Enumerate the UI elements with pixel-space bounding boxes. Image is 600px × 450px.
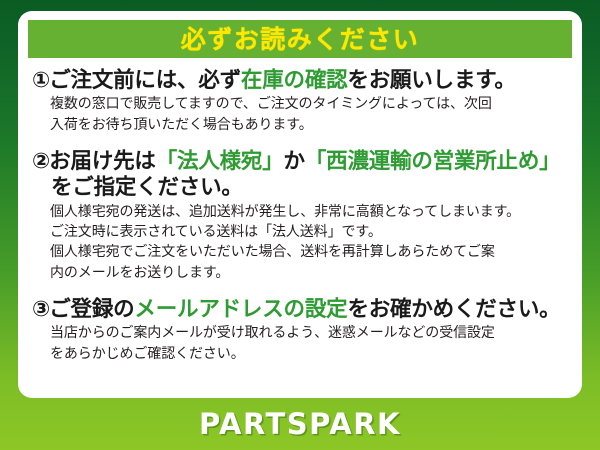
notice-body-line: ご注文時に表示されている送料は「法人送料」です。 [50, 222, 572, 242]
notice-heading-text: ご登録の [49, 297, 134, 322]
notice-body-line: 当店からのご案内メールが受け取れるよう、迷惑メールなどの受信設定 [50, 323, 572, 343]
notice-item: ②お届け先は「法人様宛」か「西濃運輸の営業所止め」をご指定ください。個人様宅宛の… [28, 149, 572, 283]
notice-card: 必ずお読みください ①ご注文前には、必ず在庫の確認をお願いします。複数の窓口で販… [18, 11, 582, 398]
notice-body-line: 入荷をお待ち頂いただく場合もあります。 [50, 115, 572, 135]
notice-number: ③ [32, 297, 49, 322]
notice-heading: ②お届け先は「法人様宛」か「西濃運輸の営業所止め」 [32, 149, 572, 174]
notice-body: 個人様宅宛の発送は、追加送料が発生し、非常に高額となってしまいます。ご注文時に表… [50, 202, 572, 283]
notice-heading-text: か [284, 149, 305, 174]
header-band: 必ずお読みください [28, 20, 572, 58]
notice-banner: 必ずお読みください ①ご注文前には、必ず在庫の確認をお願いします。複数の窓口で販… [0, 0, 600, 450]
notice-body-line: 内のメールをお送りします。 [50, 263, 572, 283]
brand-footer: PARTSPARK [0, 398, 600, 450]
notice-heading-text: をお願いします。 [347, 68, 515, 93]
notice-body-line: をあらかじめご確認ください。 [50, 344, 572, 364]
notice-heading-text: をお確かめください。 [347, 297, 560, 322]
notice-body-line: 個人様宅宛の発送は、追加送料が発生し、非常に高額となってしまいます。 [50, 202, 572, 222]
notice-heading-text: ご注文前には、必ず [49, 68, 241, 93]
notice-body-line: 複数の窓口で販売してますので、ご注文のタイミングによっては、次回 [50, 94, 572, 114]
notice-heading-highlight: 在庫の確認 [241, 68, 348, 93]
notice-heading-highlight: 「法人様宛」 [156, 149, 284, 174]
notice-number: ① [32, 68, 49, 93]
notice-heading-text: お届け先は [49, 149, 156, 174]
notice-item: ①ご注文前には、必ず在庫の確認をお願いします。複数の窓口で販売してますので、ご注… [28, 68, 572, 135]
notice-body: 複数の窓口で販売してますので、ご注文のタイミングによっては、次回入荷をお待ち頂い… [50, 94, 572, 135]
notice-number: ② [32, 149, 49, 174]
page-title: 必ずお読みください [181, 27, 420, 52]
notice-body-line: 個人様宅宛でご注文をいただいた場合、送料を再計算しあらためてご案 [50, 242, 572, 262]
notice-item: ③ご登録のメールアドレスの設定をお確かめください。当店からのご案内メールが受け取… [28, 297, 572, 364]
brand-name: PARTSPARK [199, 410, 401, 439]
notice-heading-continuation: をご指定ください。 [51, 175, 572, 200]
notice-heading: ①ご注文前には、必ず在庫の確認をお願いします。 [32, 68, 572, 93]
notice-heading-highlight: メールアドレスの設定 [134, 297, 347, 322]
notice-list: ①ご注文前には、必ず在庫の確認をお願いします。複数の窓口で販売してますので、ご注… [28, 68, 572, 364]
notice-heading-highlight: 「西濃運輸の営業所止め」 [305, 149, 561, 174]
notice-body: 当店からのご案内メールが受け取れるよう、迷惑メールなどの受信設定をあらかじめご確… [50, 323, 572, 364]
notice-heading: ③ご登録のメールアドレスの設定をお確かめください。 [32, 297, 572, 322]
